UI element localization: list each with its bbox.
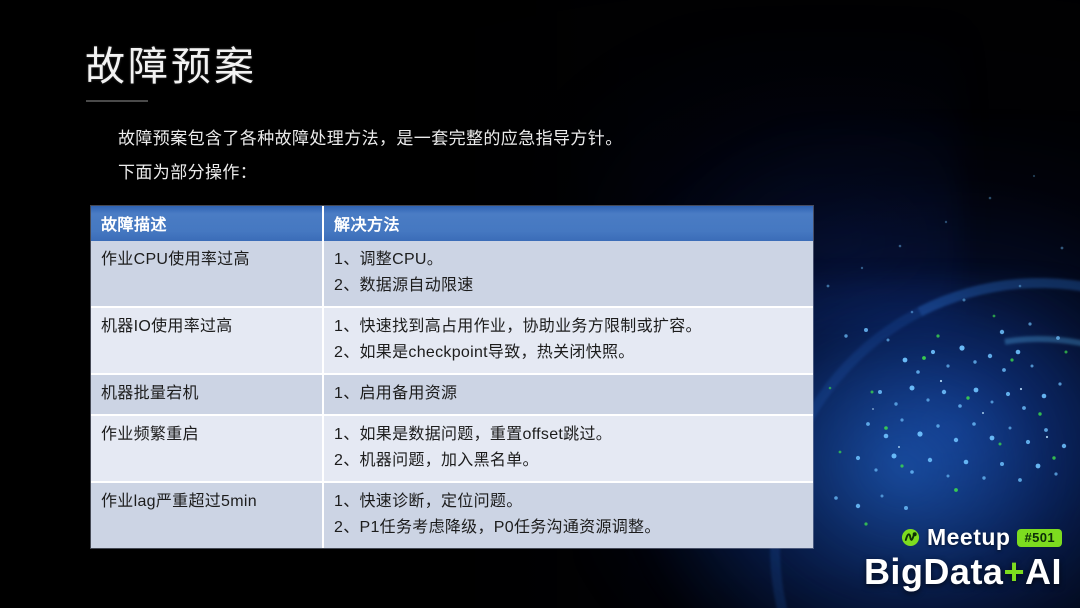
- cell-solution: 1、快速诊断，定位问题。 2、P1任务考虑降级，P0任务沟通资源调整。: [323, 482, 813, 548]
- fault-plan-table: 故障描述 解决方法 作业CPU使用率过高 1、调整CPU。 2、数据源自动限速 …: [91, 206, 813, 548]
- intro-text: 故障预案包含了各种故障处理方法，是一套完整的应急指导方针。 下面为部分操作：: [118, 122, 878, 190]
- edition-badge: #501: [1017, 529, 1062, 547]
- cell-solution: 1、如果是数据问题，重置offset跳过。 2、机器问题，加入黑名单。: [323, 415, 813, 482]
- cell-fault: 作业CPU使用率过高: [91, 241, 323, 307]
- solution-line: 2、机器问题，加入黑名单。: [334, 448, 803, 474]
- solution-line: 2、如果是checkpoint导致，热关闭快照。: [334, 340, 803, 366]
- slide-canvas: 故障预案 故障预案包含了各种故障处理方法，是一套完整的应急指导方针。 下面为部分…: [0, 0, 1080, 608]
- cell-solution: 1、快速找到高占用作业，协助业务方限制或扩容。 2、如果是checkpoint导…: [323, 307, 813, 374]
- fault-plan-table-wrapper: 故障描述 解决方法 作业CPU使用率过高 1、调整CPU。 2、数据源自动限速 …: [91, 206, 813, 548]
- table-row: 作业CPU使用率过高 1、调整CPU。 2、数据源自动限速: [91, 241, 813, 307]
- table-header-row: 故障描述 解决方法: [91, 206, 813, 241]
- solution-line: 2、数据源自动限速: [334, 273, 803, 299]
- table-head: 故障描述 解决方法: [91, 206, 813, 241]
- cell-fault: 机器IO使用率过高: [91, 307, 323, 374]
- intro-line-2: 下面为部分操作：: [118, 156, 878, 190]
- brand-plus: +: [1003, 551, 1025, 592]
- solution-line: 1、如果是数据问题，重置offset跳过。: [334, 422, 803, 448]
- brand-ai: AI: [1025, 551, 1062, 592]
- meetup-label: Meetup: [927, 524, 1011, 551]
- cell-fault: 作业lag严重超过5min: [91, 482, 323, 548]
- page-title: 故障预案: [85, 34, 257, 92]
- table-row: 机器批量宕机 1、启用备用资源: [91, 374, 813, 415]
- event-logo: Meetup #501 BigData+AI: [864, 524, 1062, 592]
- solution-line: 1、调整CPU。: [334, 247, 803, 273]
- column-header-solution: 解决方法: [323, 206, 813, 241]
- brand-title: BigData+AI: [864, 552, 1062, 592]
- solution-line: 1、快速诊断，定位问题。: [334, 489, 803, 515]
- brand-bigdata: BigData: [864, 551, 1004, 592]
- cell-solution: 1、调整CPU。 2、数据源自动限速: [323, 241, 813, 307]
- solution-line: 1、快速找到高占用作业，协助业务方限制或扩容。: [334, 314, 803, 340]
- table-body: 作业CPU使用率过高 1、调整CPU。 2、数据源自动限速 机器IO使用率过高 …: [91, 241, 813, 548]
- cell-fault: 作业频繁重启: [91, 415, 323, 482]
- column-header-fault: 故障描述: [91, 206, 323, 241]
- table-row: 机器IO使用率过高 1、快速找到高占用作业，协助业务方限制或扩容。 2、如果是c…: [91, 307, 813, 374]
- solution-line: 1、启用备用资源: [334, 381, 803, 407]
- cell-fault: 机器批量宕机: [91, 374, 323, 415]
- logo-top-row: Meetup #501: [864, 524, 1062, 551]
- cell-solution: 1、启用备用资源: [323, 374, 813, 415]
- intro-line-1: 故障预案包含了各种故障处理方法，是一套完整的应急指导方针。: [118, 122, 878, 156]
- meetup-icon: [901, 528, 920, 547]
- table-row: 作业lag严重超过5min 1、快速诊断，定位问题。 2、P1任务考虑降级，P0…: [91, 482, 813, 548]
- title-underline: [86, 100, 148, 102]
- solution-line: 2、P1任务考虑降级，P0任务沟通资源调整。: [334, 515, 803, 541]
- table-row: 作业频繁重启 1、如果是数据问题，重置offset跳过。 2、机器问题，加入黑名…: [91, 415, 813, 482]
